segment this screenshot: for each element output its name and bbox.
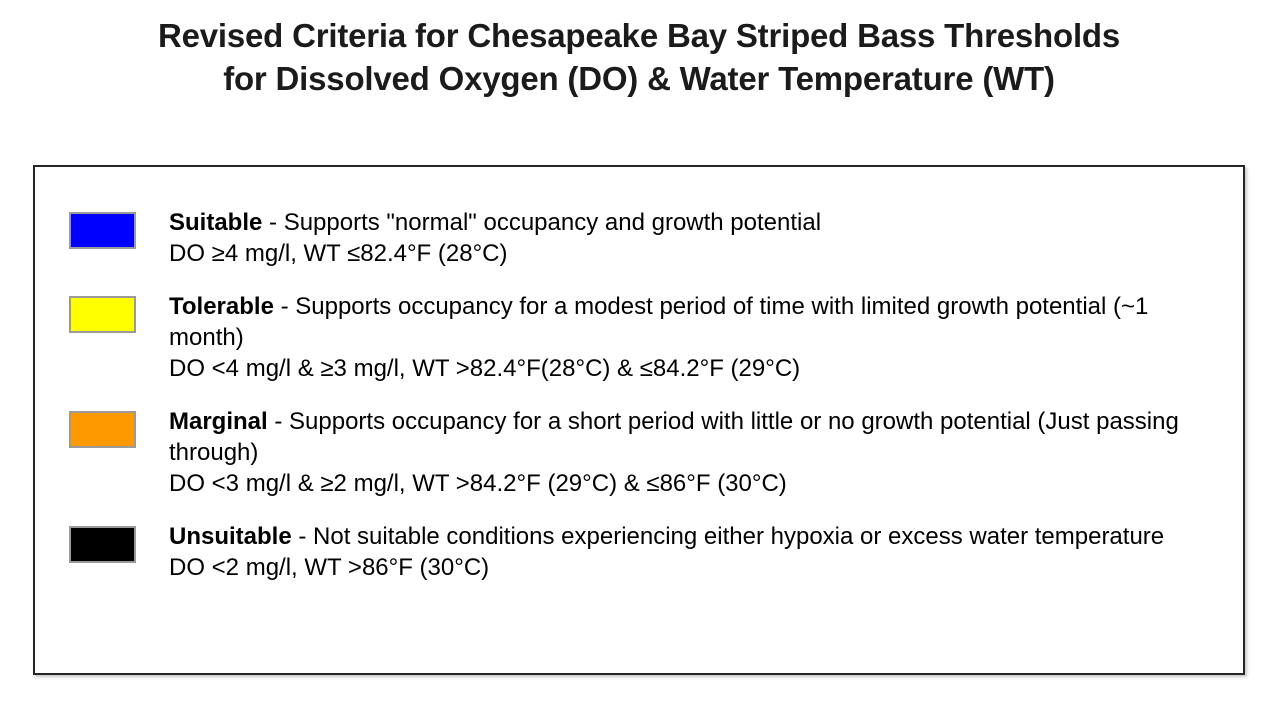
legend-item-suitable: Suitable - Supports "normal" occupancy a…: [35, 207, 1243, 269]
legend-description-line: Unsuitable - Not suitable conditions exp…: [169, 521, 1221, 552]
page-title-line-2: for Dissolved Oxygen (DO) & Water Temper…: [33, 57, 1245, 100]
legend-term: Unsuitable: [169, 523, 292, 550]
legend-text-suitable: Suitable - Supports "normal" occupancy a…: [169, 207, 1243, 269]
legend-separator: -: [274, 293, 295, 320]
legend-description-line: Marginal - Supports occupancy for a shor…: [169, 406, 1221, 468]
legend-separator: -: [262, 209, 283, 236]
legend-criteria: DO <4 mg/l & ≥3 mg/l, WT >82.4°F(28°C) &…: [169, 353, 1221, 384]
legend-description: Supports occupancy for a short period wi…: [169, 408, 1179, 466]
legend-swatch-cell: [35, 521, 169, 563]
legend-term: Suitable: [169, 209, 262, 236]
legend-text-tolerable: Tolerable - Supports occupancy for a mod…: [169, 291, 1243, 384]
page-title-line-1: Revised Criteria for Chesapeake Bay Stri…: [33, 14, 1245, 57]
legend-term: Marginal: [169, 408, 268, 435]
legend-description-line: Suitable - Supports "normal" occupancy a…: [169, 207, 1221, 238]
legend-description: Not suitable conditions experiencing eit…: [313, 523, 1164, 550]
legend-swatch-cell: [35, 207, 169, 249]
legend-swatch-cell: [35, 291, 169, 333]
legend-separator: -: [268, 408, 289, 435]
legend-description: Supports occupancy for a modest period o…: [169, 293, 1148, 351]
legend-text-marginal: Marginal - Supports occupancy for a shor…: [169, 406, 1243, 499]
legend-text-unsuitable: Unsuitable - Not suitable conditions exp…: [169, 521, 1243, 583]
color-swatch-tolerable: [69, 296, 136, 333]
legend-criteria: DO ≥4 mg/l, WT ≤82.4°F (28°C): [169, 238, 1221, 269]
color-swatch-marginal: [69, 411, 136, 448]
legend-term: Tolerable: [169, 293, 274, 320]
color-swatch-unsuitable: [69, 526, 136, 563]
legend-swatch-cell: [35, 406, 169, 448]
page-title: Revised Criteria for Chesapeake Bay Stri…: [33, 14, 1245, 100]
legend-item-tolerable: Tolerable - Supports occupancy for a mod…: [35, 291, 1243, 384]
legend-separator: -: [292, 523, 313, 550]
legend-list: Suitable - Supports "normal" occupancy a…: [35, 167, 1243, 583]
legend-panel: Suitable - Supports "normal" occupancy a…: [33, 165, 1245, 675]
legend-item-unsuitable: Unsuitable - Not suitable conditions exp…: [35, 521, 1243, 583]
legend-criteria: DO <3 mg/l & ≥2 mg/l, WT >84.2°F (29°C) …: [169, 468, 1221, 499]
legend-description: Supports "normal" occupancy and growth p…: [284, 209, 821, 236]
legend-criteria: DO <2 mg/l, WT >86°F (30°C): [169, 552, 1221, 583]
legend-item-marginal: Marginal - Supports occupancy for a shor…: [35, 406, 1243, 499]
color-swatch-suitable: [69, 212, 136, 249]
legend-description-line: Tolerable - Supports occupancy for a mod…: [169, 291, 1221, 353]
